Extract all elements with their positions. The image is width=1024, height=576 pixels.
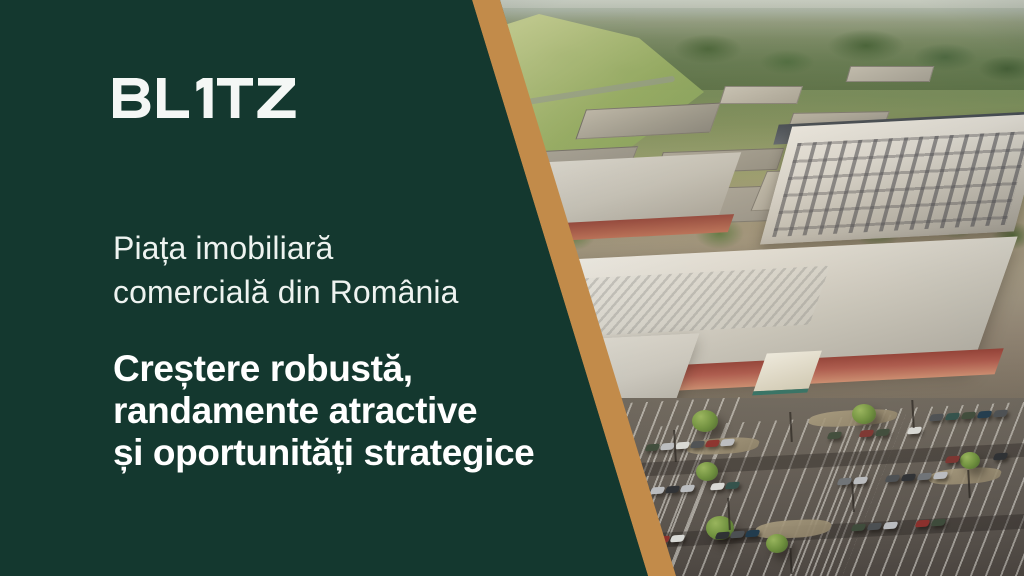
photo-warehouse — [719, 86, 803, 104]
subtitle-line-1: Piața imobiliară — [113, 226, 573, 270]
subtitle-line-2: comercială din România — [113, 270, 573, 314]
presentation-slide: BLITZ Piața imobiliară comercială din Ro… — [0, 0, 1024, 576]
photo-parking-lot-tree — [852, 404, 876, 424]
photo-apartment-building — [760, 114, 1024, 245]
slide-subtitle: Piața imobiliară comercială din România — [113, 226, 573, 314]
photo-warehouse — [846, 66, 935, 82]
blitz-logo[interactable]: BLITZ — [113, 76, 303, 118]
headline-line-1: Creștere robustă, — [113, 348, 633, 390]
blitz-logo-mark — [113, 78, 303, 118]
slide-headline: Creștere robustă, randamente atractive ș… — [113, 348, 633, 474]
headline-line-3: și oportunități strategice — [113, 432, 633, 474]
photo-parking-lot-tree — [960, 452, 980, 469]
headline-line-2: randamente atractive — [113, 390, 633, 432]
photo-parking-lot-tree — [692, 410, 718, 432]
photo-parking-lot-tree — [766, 534, 788, 553]
slide-content: BLITZ Piața imobiliară comercială din Ro… — [113, 0, 633, 576]
photo-parking-lot-tree — [696, 462, 718, 481]
